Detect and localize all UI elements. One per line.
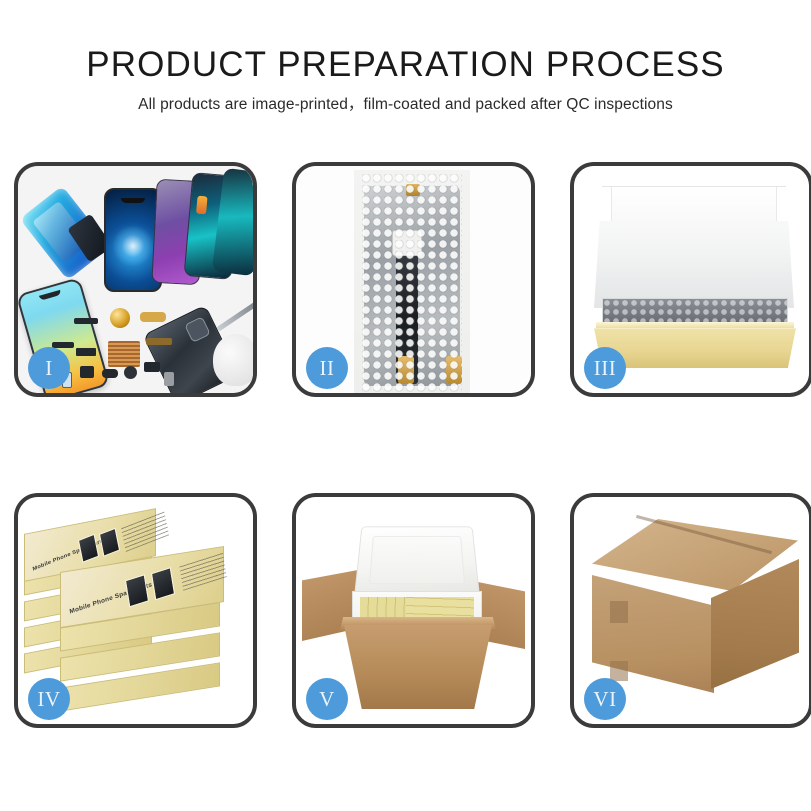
step-badge-6: VI [584, 678, 626, 720]
step-badge-1: I [28, 347, 70, 389]
gold-chip-icon [110, 308, 130, 328]
process-step-panel-4[interactable]: Mobile Phone Spare Parts Mobile Phone Sp… [14, 493, 257, 728]
product-preparation-page: PRODUCT PREPARATION PROCESS All products… [0, 0, 811, 811]
hand-icon [213, 334, 253, 386]
step-badge-2: II [306, 347, 348, 389]
process-step-panel-5[interactable]: V [292, 493, 535, 728]
process-step-panel-3[interactable]: III [570, 162, 811, 397]
page-subtitle: All products are image-printed，film-coat… [0, 95, 811, 115]
spare-part-icon [124, 366, 137, 379]
page-title: PRODUCT PREPARATION PROCESS [0, 44, 811, 86]
process-step-panel-2[interactable]: II [292, 162, 535, 397]
spare-part-icon [146, 338, 172, 345]
process-step-panel-1[interactable]: I [14, 162, 257, 397]
bubble-wrap-bag [354, 170, 470, 393]
bubble-texture [362, 174, 462, 393]
process-step-panel-6[interactable]: VI [570, 493, 811, 728]
carton-tape-patch [610, 601, 628, 623]
box-lid-white [594, 186, 794, 308]
spare-part-icon [140, 312, 166, 322]
tweezers-icon [217, 302, 253, 332]
spare-part-icon [164, 372, 174, 386]
spare-part-icon [80, 366, 94, 378]
carton-tape-patch [610, 661, 628, 681]
spare-part-icon [144, 362, 160, 372]
step-badge-3: III [584, 347, 626, 389]
foam-lid [354, 526, 480, 595]
step-badge-4: IV [28, 678, 70, 720]
spare-part-icon [76, 348, 96, 356]
spare-part-icon [102, 369, 118, 378]
chip-array-icon [108, 341, 140, 367]
step-badge-5: V [306, 678, 348, 720]
spare-part-icon [74, 318, 98, 324]
process-steps-grid: I II [14, 162, 797, 728]
carton-body [344, 625, 492, 709]
header: PRODUCT PREPARATION PROCESS All products… [0, 44, 811, 115]
